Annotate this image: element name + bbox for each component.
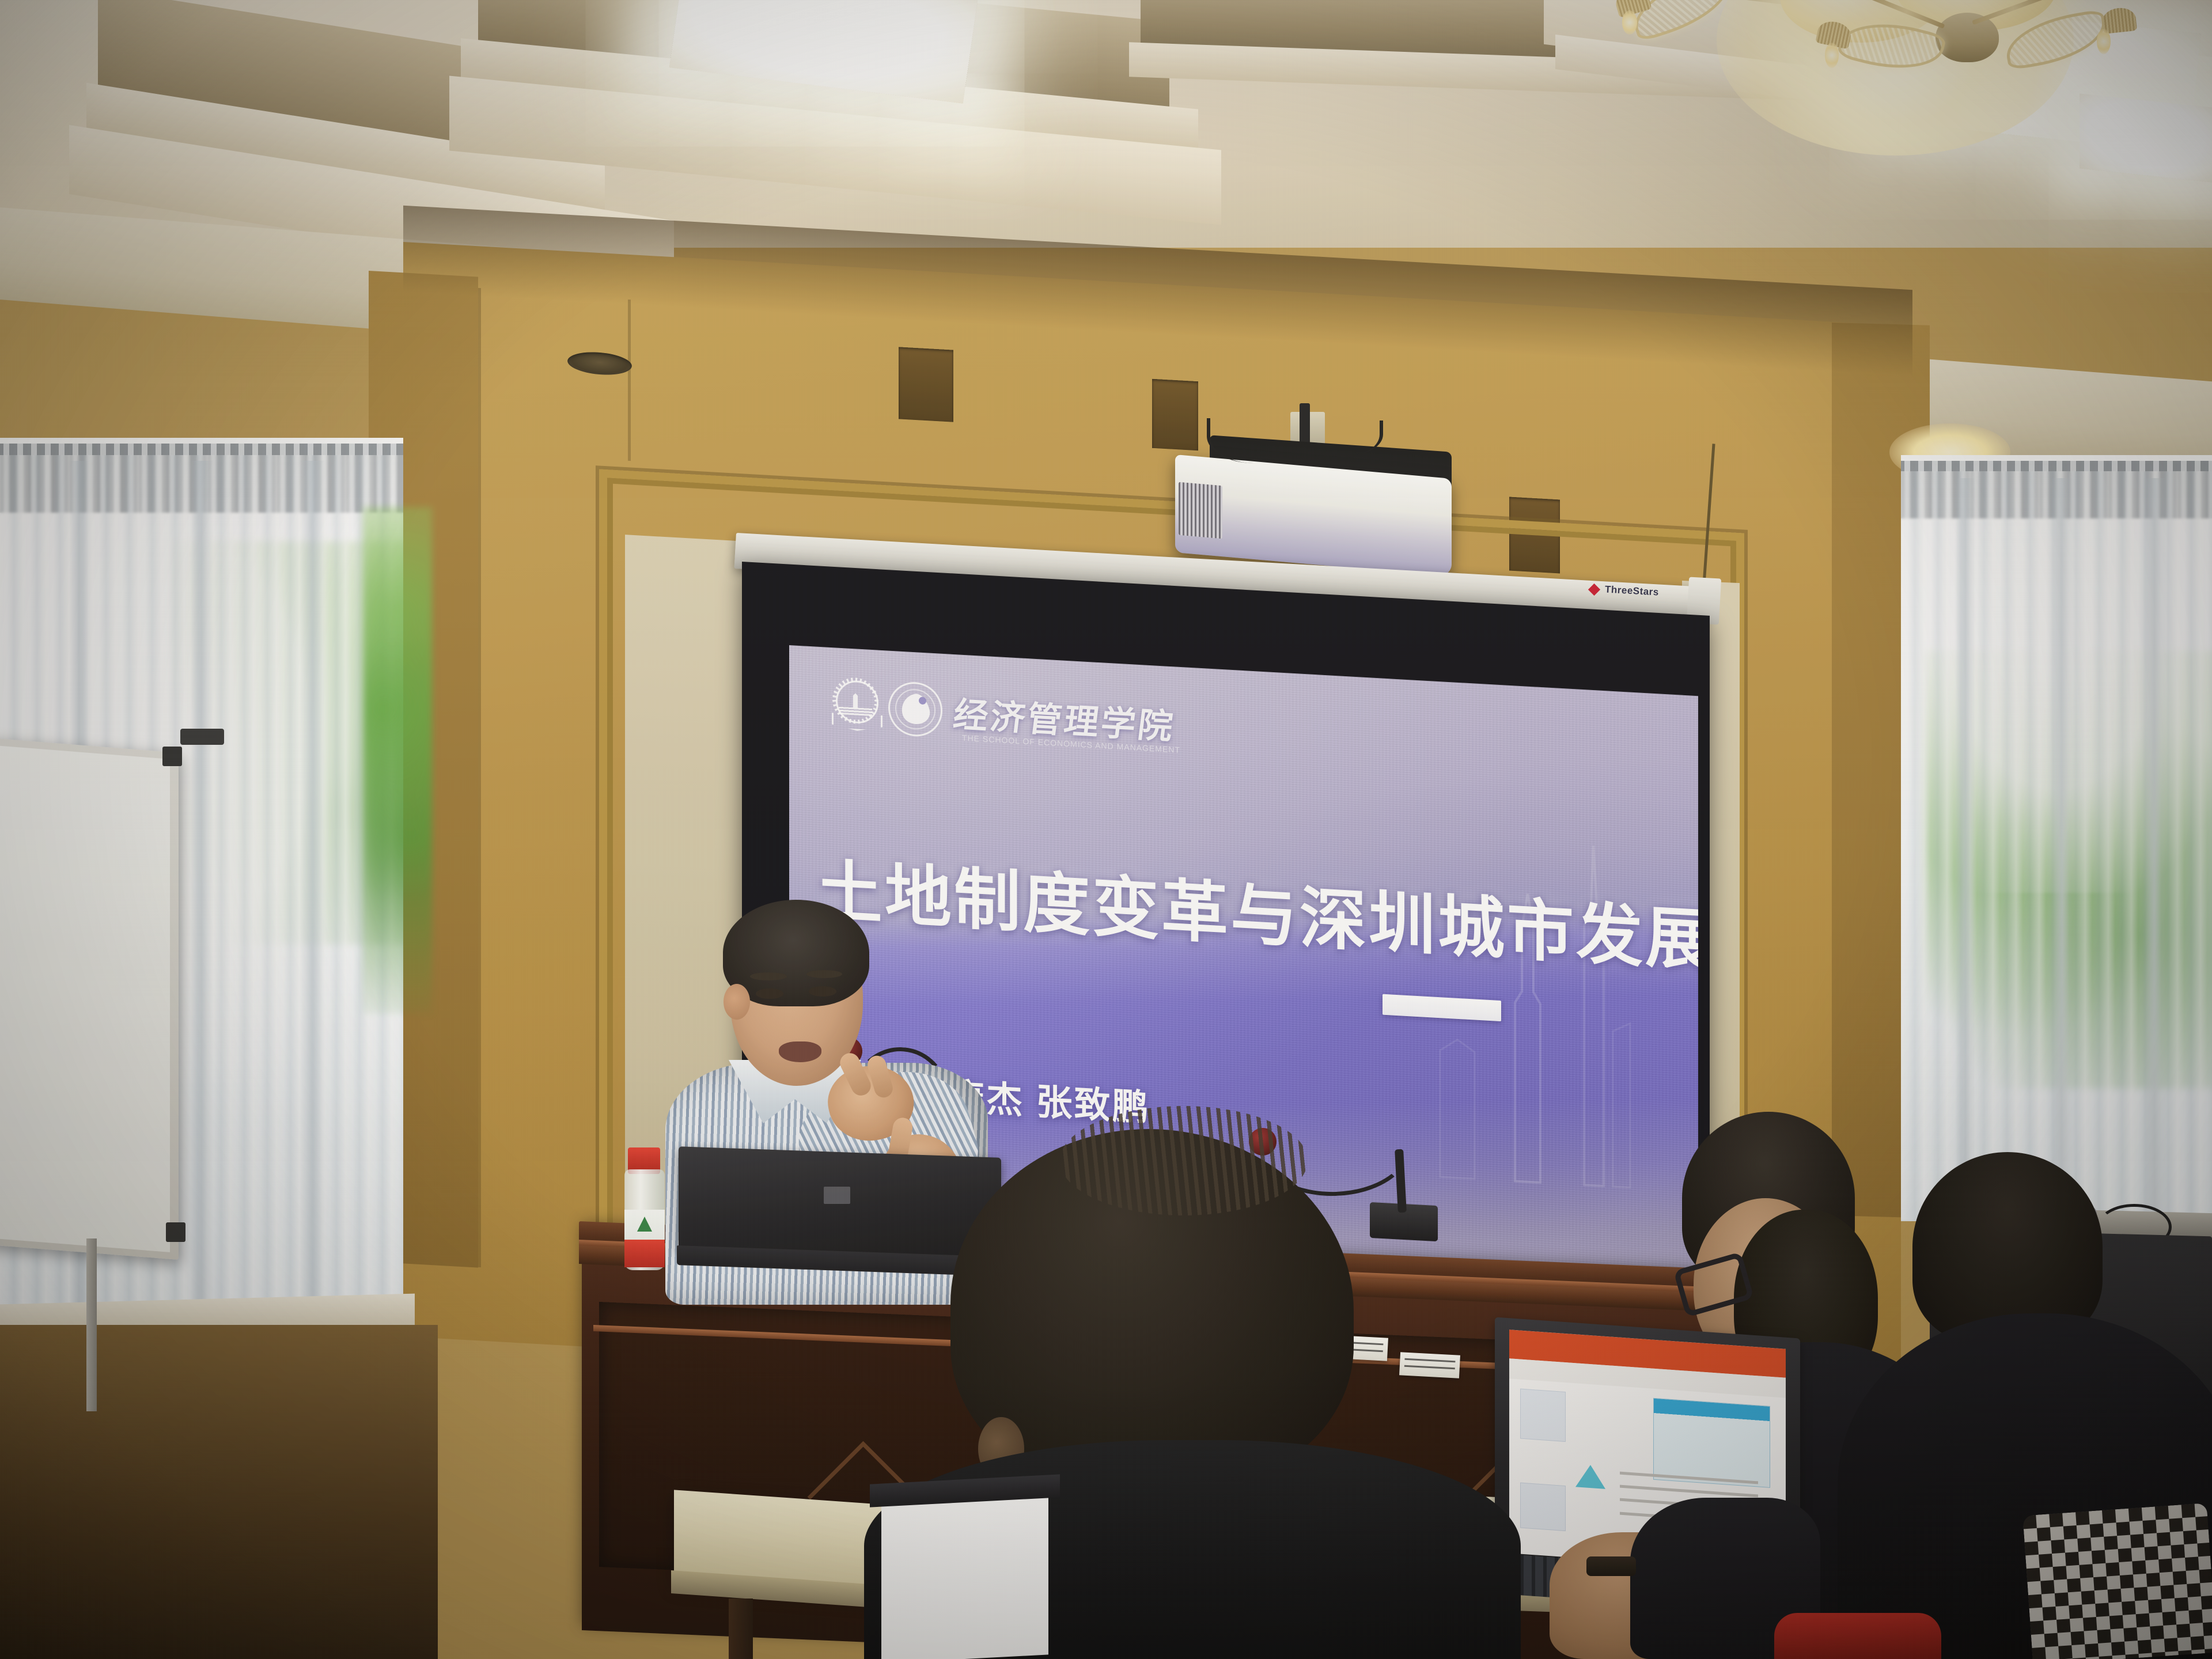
- school-emblem-icon: [888, 681, 942, 738]
- presenter-ear: [724, 984, 750, 1020]
- bottle-label-red: [624, 1240, 665, 1267]
- wall-seam-1: [478, 288, 481, 1267]
- curtain-left-fold-3: [300, 461, 325, 1313]
- wristwatch: [1586, 1556, 1636, 1576]
- projector-vent: [1179, 482, 1222, 539]
- chandelier-flame-2: [1825, 43, 1839, 68]
- red-seat-back: [1774, 1613, 1941, 1659]
- ppt-table: [1653, 1398, 1771, 1488]
- whiteboard-corner-br: [166, 1222, 185, 1242]
- window-left-gap-foliage: [363, 507, 432, 1014]
- audience-front-hair-wisps: [1060, 1106, 1308, 1215]
- ppt-text-line-2: [1620, 1485, 1758, 1498]
- presenter-brow-right: [806, 970, 842, 978]
- ppt-thumbnail-panel: [1520, 1388, 1566, 1442]
- chandelier-flame-1: [1622, 10, 1637, 35]
- chandelier-flame-3: [2097, 29, 2111, 54]
- laptop-front-screen[interactable]: [881, 1487, 1048, 1659]
- whiteboard-leg: [86, 1238, 97, 1411]
- wall-vent-mid: [1152, 379, 1198, 450]
- laptop-presenter-logo: [824, 1187, 850, 1204]
- panel-light-far-right: [2080, 93, 2212, 183]
- chandelier-hub: [1935, 13, 1999, 62]
- wall-vent-left: [899, 347, 953, 422]
- presenter-eye-left: [756, 988, 783, 999]
- whiteboard-surface[interactable]: [0, 741, 170, 1252]
- ppt-shape-icon: [1575, 1464, 1605, 1489]
- lecture-hall-photo: ThreeStars 经济管理学院: [0, 0, 2212, 1659]
- projector-arm: [1300, 403, 1310, 444]
- curtain-right-fold-2: [2051, 478, 2073, 1215]
- whiteboard-clip: [180, 729, 224, 745]
- curtain-left-fold-2: [190, 461, 213, 1313]
- whiteboard-corner-tr: [162, 747, 182, 766]
- presenter-eye-right: [809, 986, 836, 997]
- curtain-right-fold-1: [1956, 478, 1975, 1215]
- presenter-brow-left: [750, 972, 787, 980]
- wall-left-lower: [0, 1325, 438, 1659]
- audience-far-right: [1861, 1152, 2212, 1659]
- curtain-right-fold-3: [2143, 478, 2166, 1215]
- audience-far-right-hair: [1912, 1152, 2103, 1342]
- front-desk-leg: [729, 1599, 753, 1659]
- wall-seam-2: [628, 300, 631, 461]
- checkered-sleeve: [2022, 1503, 2212, 1659]
- presenter-mouth: [779, 1041, 821, 1062]
- university-crest-icon: [831, 678, 880, 734]
- ppt-thumbnail-panel-2: [1520, 1482, 1566, 1531]
